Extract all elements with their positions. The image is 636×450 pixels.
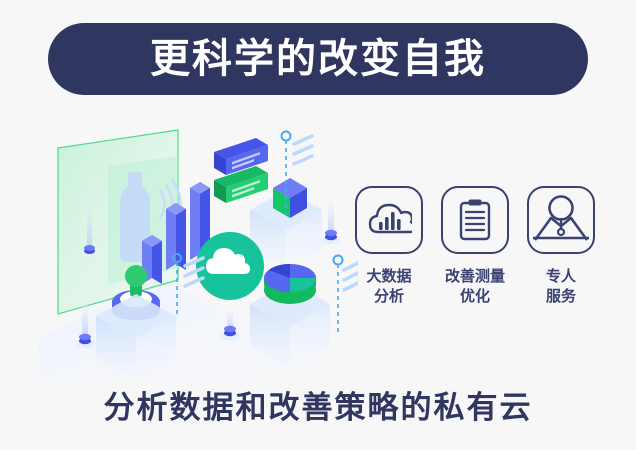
feature-item-service[interactable]: 专人 服务 bbox=[524, 186, 598, 334]
cloud-badge bbox=[196, 232, 264, 300]
clipboard-icon bbox=[441, 186, 509, 254]
cloud-bar-chart-icon bbox=[355, 186, 423, 254]
feature-label-measurement: 改善测量 优化 bbox=[445, 267, 505, 308]
feature-label-big-data: 大数据 分析 bbox=[366, 267, 411, 308]
header-banner: 更科学的改变自我 bbox=[48, 23, 588, 95]
marker-rod-right bbox=[321, 184, 341, 245]
feature-item-big-data[interactable]: 大数据 分析 bbox=[352, 186, 426, 334]
illustration bbox=[38, 118, 358, 380]
feature-list: 大数据 分析 改善测量 优化 bbox=[352, 186, 598, 334]
feature-item-measurement[interactable]: 改善测量 优化 bbox=[438, 186, 512, 334]
pie-chart bbox=[264, 264, 316, 304]
person-service-icon bbox=[527, 186, 595, 254]
page-title: 更科学的改变自我 bbox=[150, 39, 486, 79]
feature-label-service: 专人 服务 bbox=[546, 267, 576, 308]
tagline: 分析数据和改善策略的私有云 bbox=[0, 382, 636, 427]
promo-banner: 更科学的改变自我 bbox=[0, 0, 636, 450]
